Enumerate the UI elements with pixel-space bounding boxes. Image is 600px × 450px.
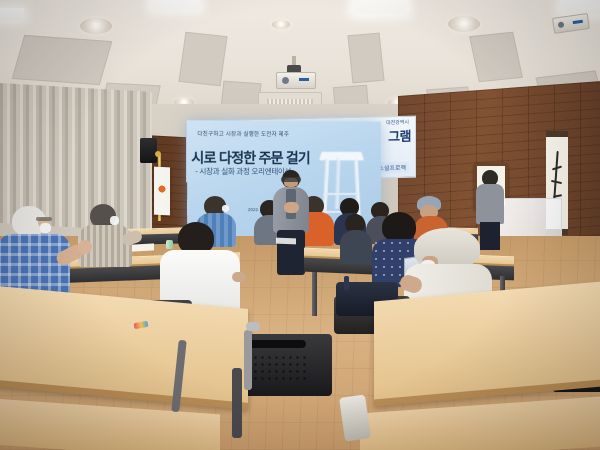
downlight xyxy=(80,18,112,34)
projector-badge xyxy=(573,20,583,24)
ink-stroke xyxy=(551,180,562,184)
green-bottle xyxy=(166,240,173,249)
slide-subtitle: - 시장과 실화 과정 오리엔테이션 xyxy=(195,166,291,177)
banner-logo: 대전광역시 xyxy=(386,119,409,126)
handout-paper xyxy=(132,243,154,251)
ceiling-panel xyxy=(12,35,113,85)
projector-badge xyxy=(299,78,309,81)
ceiling-panel xyxy=(469,32,523,83)
face-mask xyxy=(222,205,229,212)
head xyxy=(382,212,416,242)
slide-kicker: 다친구하고 시장과 실행한 도전자 제주 xyxy=(197,129,289,138)
chair-leg xyxy=(232,368,242,438)
ink-stroke xyxy=(553,151,558,199)
flag-emblem xyxy=(156,183,168,196)
ceiling-panel xyxy=(178,32,227,86)
projector-lens xyxy=(282,77,289,84)
banner-title-right: 그램 xyxy=(388,126,411,145)
stool-rung xyxy=(324,193,359,195)
crutch xyxy=(244,330,252,390)
bag-strap xyxy=(344,276,349,290)
desk-leg xyxy=(312,272,317,316)
projector-body xyxy=(552,13,590,34)
flag-finial xyxy=(155,151,161,157)
presenter-trousers xyxy=(277,230,305,275)
wall-speaker xyxy=(140,138,157,163)
handout-paper xyxy=(276,238,296,245)
projector-body xyxy=(276,72,316,89)
face-mask xyxy=(40,223,51,233)
face-mask xyxy=(110,216,119,225)
lecture-hall-photo: 2022년 대 그램 주최기관 2022 대전광역시 소셜프로젝 다친구하고 시… xyxy=(0,0,600,450)
ceiling-light xyxy=(560,0,600,14)
glasses-icon xyxy=(36,217,52,221)
projector-lens xyxy=(558,21,565,28)
legs xyxy=(480,222,500,250)
torso xyxy=(340,230,372,264)
stool-leg xyxy=(335,157,341,209)
flag-cloth xyxy=(154,167,170,216)
ceiling-panel xyxy=(347,33,384,84)
hand xyxy=(78,240,92,254)
ceiling-light xyxy=(150,0,200,10)
torso xyxy=(476,184,504,224)
hand xyxy=(232,272,246,282)
glasses-icon xyxy=(281,177,301,182)
ceiling-light xyxy=(352,0,408,14)
downlight xyxy=(272,20,290,29)
crutch-handle xyxy=(246,322,260,331)
ceiling-light xyxy=(0,8,24,20)
downlight xyxy=(448,16,480,32)
presenter-hands-clapping xyxy=(284,202,299,213)
